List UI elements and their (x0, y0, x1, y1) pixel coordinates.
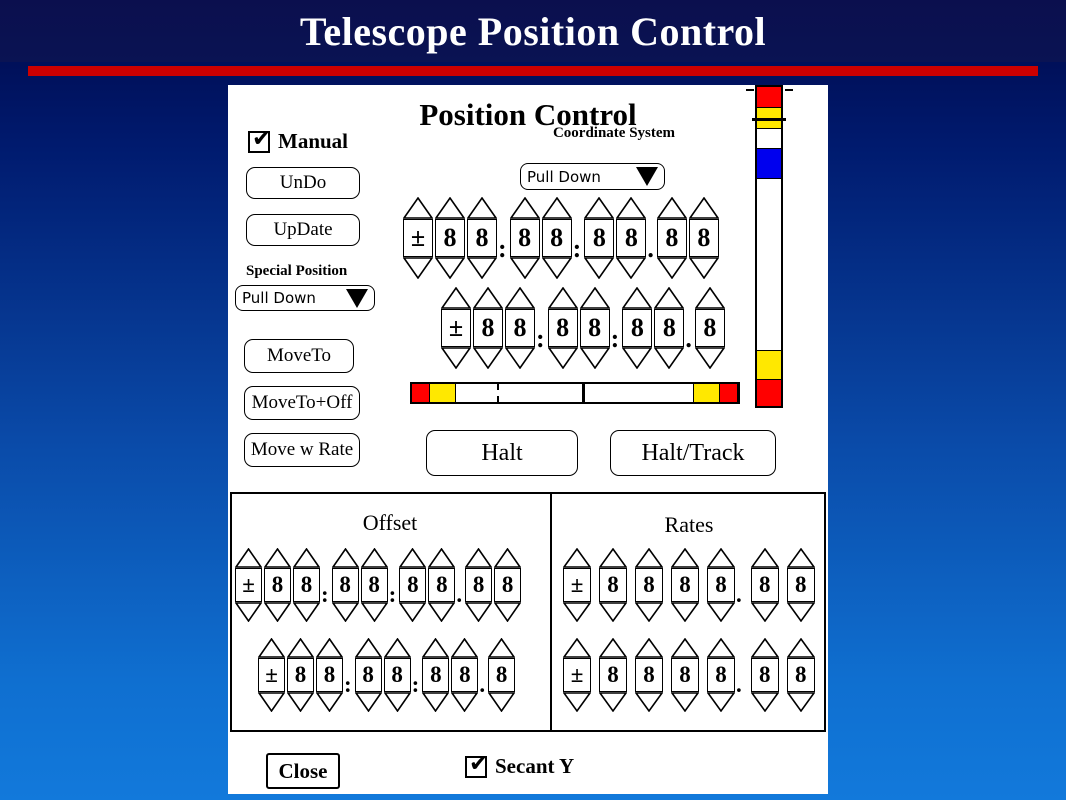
spinner-up-arrow-icon[interactable] (361, 548, 388, 568)
spinner-sign-cell[interactable]: ± (563, 548, 591, 622)
spinner-digit-value[interactable]: 8 (751, 568, 779, 602)
spinner-up-arrow-icon[interactable] (428, 548, 455, 568)
spinner-digit-cell[interactable]: 8 (422, 638, 449, 712)
gauge-segment (757, 128, 781, 149)
spinner-down-arrow-icon[interactable] (287, 692, 314, 712)
gauge-segment (412, 384, 430, 402)
separator-colon: : (498, 230, 507, 268)
spinner-digit-cell[interactable]: 8 (548, 287, 578, 369)
offset-spinner-row-1[interactable]: ±88:88:88.88 (235, 548, 521, 622)
spinner-digit-value[interactable]: 8 (671, 658, 699, 692)
spinner-digit-cell[interactable]: 8 (622, 287, 652, 369)
spinner-digit-cell[interactable]: 8 (473, 287, 503, 369)
chevron-down-icon (636, 167, 658, 186)
spinner-up-arrow-icon[interactable] (616, 197, 646, 219)
gauge-segment (694, 384, 720, 402)
spinner-digit-cell[interactable]: 8 (751, 638, 779, 712)
spinner-up-arrow-icon[interactable] (787, 548, 815, 568)
spinner-digit-value[interactable]: 8 (435, 219, 465, 257)
spinner-up-arrow-icon[interactable] (235, 548, 262, 568)
spinner-down-arrow-icon[interactable] (707, 602, 735, 622)
spinner-digit-cell[interactable]: 8 (671, 548, 699, 622)
spinner-digit-cell[interactable]: 8 (671, 638, 699, 712)
title-divider-rule (28, 66, 1038, 76)
gauge-segment (757, 178, 781, 350)
spinner-down-arrow-icon[interactable] (548, 347, 578, 369)
spinner-up-arrow-icon[interactable] (473, 287, 503, 309)
spinner-sign-cell[interactable]: ± (403, 197, 433, 279)
spinner-down-arrow-icon[interactable] (787, 602, 815, 622)
rates-panel-title: Rates (552, 512, 826, 538)
spinner-digit-value[interactable]: 8 (695, 309, 725, 347)
spinner-digit-cell[interactable]: 8 (451, 638, 478, 712)
checkbox-box-manual[interactable]: ✔ (248, 131, 270, 153)
spinner-up-arrow-icon[interactable] (671, 638, 699, 658)
spinner-sign-value[interactable]: ± (235, 568, 262, 602)
spinner-up-arrow-icon[interactable] (707, 548, 735, 568)
spinner-digit-cell[interactable]: 8 (316, 638, 343, 712)
spinner-up-arrow-icon[interactable] (584, 197, 614, 219)
spinner-down-arrow-icon[interactable] (422, 692, 449, 712)
spinner-digit-value[interactable]: 8 (622, 309, 652, 347)
spinner-digit-cell[interactable]: 8 (287, 638, 314, 712)
spinner-up-arrow-icon[interactable] (707, 638, 735, 658)
spinner-down-arrow-icon[interactable] (428, 602, 455, 622)
spinner-digit-value[interactable]: 8 (473, 309, 503, 347)
spinner-sign-cell[interactable]: ± (258, 638, 285, 712)
manual-checkbox-label: Manual (278, 129, 348, 154)
spinner-digit-cell[interactable]: 8 (654, 287, 684, 369)
spinner-up-arrow-icon[interactable] (599, 548, 627, 568)
spinner-down-arrow-icon[interactable] (654, 347, 684, 369)
checkbox-box-secant-y[interactable]: ✔ (465, 756, 487, 778)
gauge-tick-marker (752, 118, 786, 121)
spinner-down-arrow-icon[interactable] (467, 257, 497, 279)
special-position-label: Special Position (246, 263, 347, 280)
spinner-down-arrow-icon[interactable] (563, 692, 591, 712)
spinner-up-arrow-icon[interactable] (635, 548, 663, 568)
spinner-digit-cell[interactable]: 8 (467, 197, 497, 279)
spinner-digit-value[interactable]: 8 (488, 658, 515, 692)
spinner-digit-value[interactable]: 8 (635, 658, 663, 692)
close-button[interactable]: Close (266, 753, 340, 789)
coordinate-spinner-row-2[interactable]: ±88:88:88.8 (441, 287, 725, 369)
spinner-down-arrow-icon[interactable] (510, 257, 540, 279)
spinner-digit-value[interactable]: 8 (467, 219, 497, 257)
spinner-digit-value[interactable]: 8 (787, 568, 815, 602)
spinner-digit-value[interactable]: 8 (787, 658, 815, 692)
spinner-up-arrow-icon[interactable] (657, 197, 687, 219)
separator-colon: : (573, 230, 582, 268)
separator-dot: . (479, 668, 485, 702)
page-title: Telescope Position Control (0, 8, 1066, 55)
spinner-digit-value[interactable]: 8 (657, 219, 687, 257)
offset-spinner-row-2[interactable]: ±88:88:88.8 (258, 638, 515, 712)
spinner-up-arrow-icon[interactable] (403, 197, 433, 219)
chevron-down-icon (346, 289, 368, 308)
gauge-segment (757, 87, 781, 107)
spinner-down-arrow-icon[interactable] (584, 257, 614, 279)
offset-panel-title: Offset (230, 510, 550, 536)
spinner-up-arrow-icon[interactable] (563, 638, 591, 658)
spinner-down-arrow-icon[interactable] (494, 602, 521, 622)
separator-colon: : (344, 668, 352, 702)
spinner-digit-cell[interactable]: 8 (399, 548, 426, 622)
spinner-sign-value[interactable]: ± (563, 658, 591, 692)
spinner-digit-cell[interactable]: 8 (689, 197, 719, 279)
secant-y-checkbox[interactable]: ✔ Secant Y (465, 754, 574, 779)
undo-button[interactable]: UnDo (246, 167, 360, 199)
spinner-down-arrow-icon[interactable] (751, 602, 779, 622)
spinner-up-arrow-icon[interactable] (258, 638, 285, 658)
secant-y-checkbox-label: Secant Y (495, 754, 574, 779)
update-button[interactable]: UpDate (246, 214, 360, 246)
spinner-digit-value[interactable]: 8 (599, 658, 627, 692)
spinner-down-arrow-icon[interactable] (542, 257, 572, 279)
spinner-up-arrow-icon[interactable] (316, 638, 343, 658)
spinner-digit-cell[interactable]: 8 (695, 287, 725, 369)
spinner-digit-value[interactable]: 8 (689, 219, 719, 257)
spinner-up-arrow-icon[interactable] (384, 638, 411, 658)
spinner-up-arrow-icon[interactable] (451, 638, 478, 658)
spinner-digit-cell[interactable]: 8 (787, 638, 815, 712)
spinner-up-arrow-icon[interactable] (542, 197, 572, 219)
spinner-down-arrow-icon[interactable] (488, 692, 515, 712)
spinner-digit-value[interactable]: 8 (599, 568, 627, 602)
moveto-button[interactable]: MoveTo (244, 339, 354, 373)
spinner-up-arrow-icon[interactable] (751, 548, 779, 568)
spinner-down-arrow-icon[interactable] (258, 692, 285, 712)
spinner-down-arrow-icon[interactable] (399, 602, 426, 622)
spinner-digit-cell[interactable]: 8 (488, 638, 515, 712)
spinner-digit-value[interactable]: 8 (428, 568, 455, 602)
spinner-down-arrow-icon[interactable] (599, 692, 627, 712)
spinner-digit-cell[interactable]: 8 (599, 638, 627, 712)
spinner-up-arrow-icon[interactable] (751, 638, 779, 658)
gauge-tick-right-upper (785, 89, 793, 91)
spinner-digit-value[interactable]: 8 (580, 309, 610, 347)
check-icon: ✔ (469, 753, 488, 775)
spinner-down-arrow-icon[interactable] (332, 602, 359, 622)
coordinate-system-dropdown-value: Pull Down (521, 168, 601, 186)
spinner-sign-value[interactable]: ± (403, 219, 433, 257)
spinner-up-arrow-icon[interactable] (355, 638, 382, 658)
spinner-digit-cell[interactable]: 8 (293, 548, 320, 622)
spinner-digit-cell[interactable]: 8 (635, 548, 663, 622)
spinner-up-arrow-icon[interactable] (332, 548, 359, 568)
spinner-digit-value[interactable]: 8 (316, 658, 343, 692)
special-position-dropdown-value: Pull Down (236, 289, 316, 307)
halt-button[interactable]: Halt (426, 430, 578, 476)
spinner-digit-cell[interactable]: 8 (428, 548, 455, 622)
spinner-up-arrow-icon[interactable] (422, 638, 449, 658)
gauge-segment (757, 350, 781, 380)
spinner-digit-cell[interactable]: 8 (384, 638, 411, 712)
spinner-sign-value[interactable]: ± (441, 309, 471, 347)
spinner-up-arrow-icon[interactable] (671, 548, 699, 568)
spinner-up-arrow-icon[interactable] (399, 548, 426, 568)
coordinate-system-dropdown[interactable]: Pull Down (520, 163, 665, 190)
spinner-digit-cell[interactable]: 8 (361, 548, 388, 622)
spinner-digit-value[interactable]: 8 (671, 568, 699, 602)
spinner-digit-cell[interactable]: 8 (355, 638, 382, 712)
spinner-up-arrow-icon[interactable] (548, 287, 578, 309)
spinner-digit-cell[interactable]: 8 (751, 548, 779, 622)
spinner-digit-cell[interactable]: 8 (635, 638, 663, 712)
spinner-sign-cell[interactable]: ± (441, 287, 471, 369)
spinner-down-arrow-icon[interactable] (361, 602, 388, 622)
separator-dot: . (647, 230, 654, 268)
spinner-up-arrow-icon[interactable] (695, 287, 725, 309)
spinner-down-arrow-icon[interactable] (689, 257, 719, 279)
spinner-up-arrow-icon[interactable] (287, 638, 314, 658)
spinner-digit-value[interactable]: 8 (264, 568, 291, 602)
spinner-down-arrow-icon[interactable] (563, 602, 591, 622)
halt-track-button[interactable]: Halt/Track (610, 430, 776, 476)
spinner-up-arrow-icon[interactable] (494, 548, 521, 568)
special-position-dropdown[interactable]: Pull Down (235, 285, 375, 311)
spinner-down-arrow-icon[interactable] (622, 347, 652, 369)
spinner-down-arrow-icon[interactable] (465, 602, 492, 622)
spinner-digit-value[interactable]: 8 (584, 219, 614, 257)
spinner-up-arrow-icon[interactable] (787, 638, 815, 658)
spinner-digit-value[interactable]: 8 (287, 658, 314, 692)
spinner-down-arrow-icon[interactable] (384, 692, 411, 712)
spinner-digit-value[interactable]: 8 (616, 219, 646, 257)
spinner-digit-cell[interactable]: 8 (465, 548, 492, 622)
spinner-sign-cell[interactable]: ± (563, 638, 591, 712)
spinner-digit-cell[interactable]: 8 (264, 548, 291, 622)
spinner-digit-value[interactable]: 8 (635, 568, 663, 602)
spinner-up-arrow-icon[interactable] (510, 197, 540, 219)
spinner-down-arrow-icon[interactable] (635, 602, 663, 622)
spinner-down-arrow-icon[interactable] (451, 692, 478, 712)
spinner-digit-cell[interactable]: 8 (542, 197, 572, 279)
move-w-rate-button[interactable]: Move w Rate (244, 433, 360, 467)
spinner-up-arrow-icon[interactable] (435, 197, 465, 219)
spinner-digit-cell[interactable]: 8 (657, 197, 687, 279)
spinner-down-arrow-icon[interactable] (441, 347, 471, 369)
spinner-up-arrow-icon[interactable] (264, 548, 291, 568)
spinner-digit-cell[interactable]: 8 (435, 197, 465, 279)
spinner-up-arrow-icon[interactable] (654, 287, 684, 309)
separator-dot: . (736, 578, 742, 612)
spinner-up-arrow-icon[interactable] (465, 548, 492, 568)
spinner-up-arrow-icon[interactable] (467, 197, 497, 219)
separator-colon: : (536, 320, 545, 358)
spinner-digit-value[interactable]: 8 (494, 568, 521, 602)
gauge-segment (757, 379, 781, 405)
spinner-sign-value[interactable]: ± (258, 658, 285, 692)
spinner-down-arrow-icon[interactable] (671, 692, 699, 712)
spinner-up-arrow-icon[interactable] (293, 548, 320, 568)
spinner-up-arrow-icon[interactable] (488, 638, 515, 658)
check-icon: ✔ (252, 128, 271, 150)
spinner-down-arrow-icon[interactable] (580, 347, 610, 369)
spinner-down-arrow-icon[interactable] (695, 347, 725, 369)
spinner-down-arrow-icon[interactable] (657, 257, 687, 279)
elevation-limit-gauge[interactable] (755, 85, 783, 408)
position-control-dialog: Position Control ✔ Manual UnDo UpDate Sp… (228, 85, 828, 794)
spinner-down-arrow-icon[interactable] (316, 692, 343, 712)
spinner-digit-cell[interactable]: 8 (580, 287, 610, 369)
rates-spinner-row-1[interactable]: ±8888.88 (563, 548, 815, 622)
spinner-down-arrow-icon[interactable] (403, 257, 433, 279)
separator-dot: . (736, 668, 742, 702)
spinner-down-arrow-icon[interactable] (671, 602, 699, 622)
spinner-digit-value[interactable]: 8 (332, 568, 359, 602)
manual-checkbox[interactable]: ✔ Manual (248, 129, 348, 154)
spinner-up-arrow-icon[interactable] (689, 197, 719, 219)
spinner-digit-cell[interactable]: 8 (616, 197, 646, 279)
spinner-digit-cell[interactable]: 8 (332, 548, 359, 622)
separator-colon: : (611, 320, 620, 358)
spinner-up-arrow-icon[interactable] (580, 287, 610, 309)
coordinate-system-label: Coordinate System (524, 125, 704, 142)
spinner-up-arrow-icon[interactable] (599, 638, 627, 658)
spinner-down-arrow-icon[interactable] (707, 692, 735, 712)
spinner-up-arrow-icon[interactable] (622, 287, 652, 309)
spinner-digit-value[interactable]: 8 (505, 309, 535, 347)
spinner-down-arrow-icon[interactable] (264, 602, 291, 622)
spinner-digit-value[interactable]: 8 (751, 658, 779, 692)
spinner-digit-value[interactable]: 8 (384, 658, 411, 692)
gauge-segment (430, 384, 456, 402)
spinner-digit-value[interactable]: 8 (355, 658, 382, 692)
spinner-down-arrow-icon[interactable] (787, 692, 815, 712)
spinner-up-arrow-icon[interactable] (635, 638, 663, 658)
separator-colon: : (321, 578, 329, 612)
spinner-down-arrow-icon[interactable] (505, 347, 535, 369)
spinner-sign-value[interactable]: ± (563, 568, 591, 602)
spinner-sign-cell[interactable]: ± (235, 548, 262, 622)
separator-dot: . (456, 578, 462, 612)
separator-colon: : (412, 668, 420, 702)
spinner-down-arrow-icon[interactable] (235, 602, 262, 622)
spinner-digit-value[interactable]: 8 (451, 658, 478, 692)
spinner-digit-cell[interactable]: 8 (494, 548, 521, 622)
spinner-digit-value[interactable]: 8 (399, 568, 426, 602)
spinner-down-arrow-icon[interactable] (635, 692, 663, 712)
spinner-digit-value[interactable]: 8 (465, 568, 492, 602)
spinner-digit-value[interactable]: 8 (548, 309, 578, 347)
spinner-digit-cell[interactable]: 8 (505, 287, 535, 369)
spinner-down-arrow-icon[interactable] (293, 602, 320, 622)
spinner-digit-value[interactable]: 8 (293, 568, 320, 602)
spinner-digit-value[interactable]: 8 (510, 219, 540, 257)
moveto-off-button[interactable]: MoveTo+Off (244, 386, 360, 420)
gauge-marker-dashed (497, 384, 499, 402)
spinner-up-arrow-icon[interactable] (563, 548, 591, 568)
spinner-digit-cell[interactable]: 8 (584, 197, 614, 279)
spinner-digit-cell[interactable]: 8 (787, 548, 815, 622)
spinner-up-arrow-icon[interactable] (441, 287, 471, 309)
separator-colon: : (389, 578, 397, 612)
spinner-down-arrow-icon[interactable] (599, 602, 627, 622)
spinner-digit-value[interactable]: 8 (361, 568, 388, 602)
spinner-down-arrow-icon[interactable] (473, 347, 503, 369)
spinner-digit-value[interactable]: 8 (707, 568, 735, 602)
spinner-digit-value[interactable]: 8 (707, 658, 735, 692)
separator-dot: . (685, 320, 692, 358)
slide-root: Telescope Position Control Position Cont… (0, 0, 1066, 800)
rates-spinner-row-2[interactable]: ±8888.88 (563, 638, 815, 712)
spinner-digit-cell[interactable]: 8 (599, 548, 627, 622)
gauge-tick-left-upper (746, 89, 754, 91)
coordinate-spinner-row-1[interactable]: ±88:88:88.88 (403, 197, 719, 279)
spinner-digit-cell[interactable]: 8 (707, 638, 735, 712)
spinner-down-arrow-icon[interactable] (435, 257, 465, 279)
spinner-up-arrow-icon[interactable] (505, 287, 535, 309)
spinner-digit-cell[interactable]: 8 (510, 197, 540, 279)
spinner-digit-value[interactable]: 8 (654, 309, 684, 347)
gauge-segment (720, 384, 738, 402)
gauge-segment (456, 384, 694, 402)
spinner-digit-value[interactable]: 8 (542, 219, 572, 257)
azimuth-limit-gauge[interactable] (410, 382, 740, 404)
spinner-digit-cell[interactable]: 8 (707, 548, 735, 622)
spinner-digit-value[interactable]: 8 (422, 658, 449, 692)
gauge-marker-solid (582, 384, 585, 402)
spinner-down-arrow-icon[interactable] (751, 692, 779, 712)
spinner-down-arrow-icon[interactable] (616, 257, 646, 279)
gauge-segment (757, 148, 781, 177)
spinner-down-arrow-icon[interactable] (355, 692, 382, 712)
